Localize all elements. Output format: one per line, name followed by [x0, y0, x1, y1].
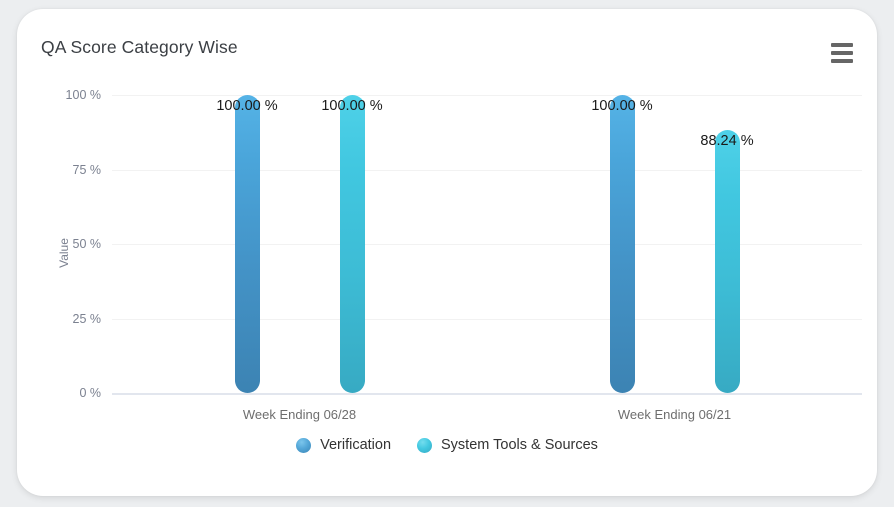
y-axis-tick-label: 0 %	[79, 386, 101, 400]
chart-card: QA Score Category Wise Value 0 %25 %50 %…	[17, 9, 877, 496]
y-axis-tick-label: 75 %	[73, 163, 102, 177]
legend-item-system-tools-sources[interactable]: System Tools & Sources	[417, 437, 598, 453]
bar-verification-1[interactable]	[610, 95, 635, 393]
gridline	[112, 319, 862, 320]
hamburger-bar-1	[831, 43, 853, 47]
hamburger-bar-3	[831, 59, 853, 63]
y-axis-tick-label: 25 %	[73, 312, 102, 326]
page-title: QA Score Category Wise	[41, 37, 238, 58]
plot-area: 0 %25 %50 %75 %100 %100.00 %100.00 %Week…	[112, 95, 862, 393]
hamburger-menu-icon[interactable]	[827, 39, 857, 67]
bar-value-label: 100.00 %	[216, 98, 277, 114]
x-axis-tick-label: Week Ending 06/21	[618, 407, 731, 422]
page-root: QA Score Category Wise Value 0 %25 %50 %…	[0, 0, 894, 507]
y-axis-tick-label: 100 %	[66, 88, 101, 102]
gridline	[112, 244, 862, 245]
hamburger-bar-2	[831, 51, 853, 55]
y-axis-title: Value	[57, 238, 71, 268]
bar-system-tools-sources-0[interactable]	[340, 95, 365, 393]
bar-value-label: 88.24 %	[700, 133, 753, 149]
legend-marker-icon	[296, 438, 311, 453]
x-axis-tick-label: Week Ending 06/28	[243, 407, 356, 422]
bar-verification-0[interactable]	[235, 95, 260, 393]
gridline	[112, 95, 862, 96]
y-axis-tick-label: 50 %	[73, 237, 102, 251]
gridline	[112, 170, 862, 171]
chart-legend: VerificationSystem Tools & Sources	[17, 437, 877, 453]
legend-label: Verification	[320, 437, 391, 453]
legend-label: System Tools & Sources	[441, 437, 598, 453]
bar-value-label: 100.00 %	[321, 98, 382, 114]
gridline	[112, 393, 862, 395]
bar-system-tools-sources-1[interactable]	[715, 130, 740, 393]
legend-item-verification[interactable]: Verification	[296, 437, 391, 453]
legend-marker-icon	[417, 438, 432, 453]
bar-value-label: 100.00 %	[591, 98, 652, 114]
